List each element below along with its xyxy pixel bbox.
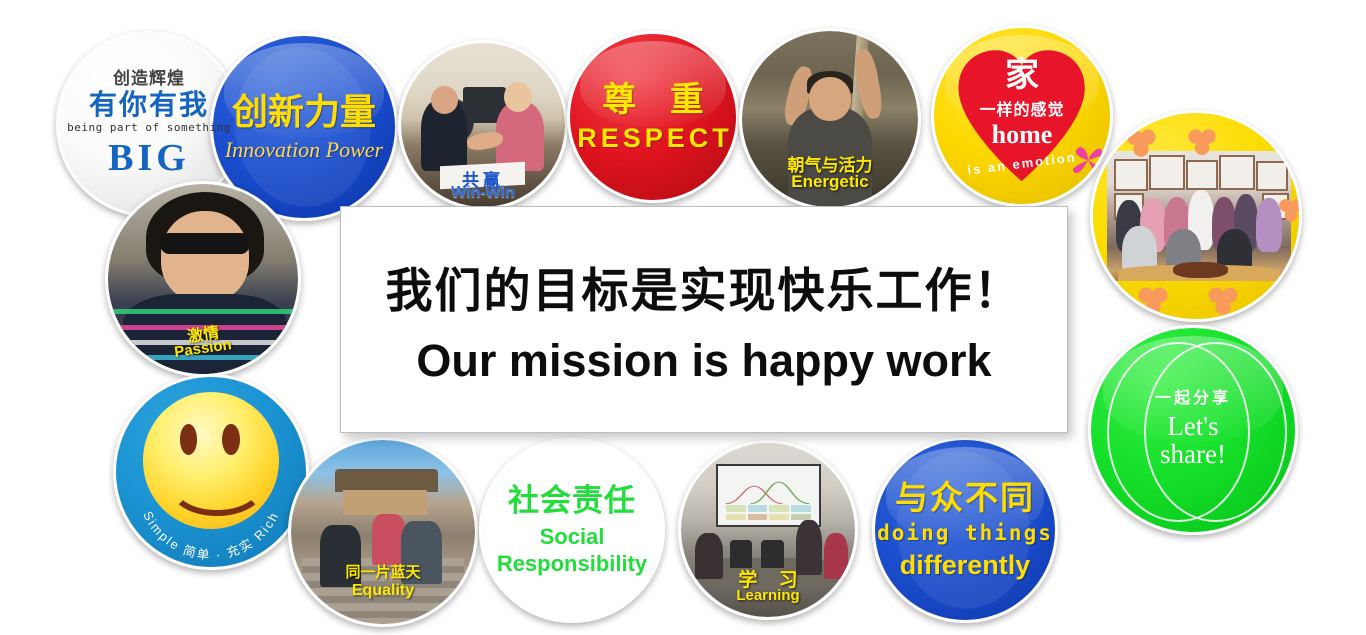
respect-line-cn: 尊 重 xyxy=(570,81,736,119)
bubble-equality[interactable]: 同一片蓝天 Equality xyxy=(288,437,478,627)
win-win-line-en: Win-Win xyxy=(401,184,565,202)
flower-icon xyxy=(1185,127,1219,159)
mission-banner: 我们的目标是实现快乐工作！ Our mission is happy work xyxy=(340,206,1068,433)
social-line-en-1: Social xyxy=(482,525,662,550)
flower-icon xyxy=(1135,285,1171,319)
differently-line-en-1: doing things xyxy=(875,522,1055,546)
mission-headline-en: Our mission is happy work xyxy=(416,335,991,387)
home-line-2: 一样的感觉 xyxy=(934,96,1110,120)
bubble-lets-share[interactable]: 一起分享 Let's share! xyxy=(1088,325,1298,535)
venn-circle-right xyxy=(1144,342,1287,521)
learning-line-en: Learning xyxy=(681,587,855,604)
bubble-energetic[interactable]: 朝气与活力 Energetic xyxy=(739,28,921,210)
bubble-passion[interactable]: 激情 Passion xyxy=(105,181,301,377)
bubble-win-win[interactable]: 共赢 Win-Win xyxy=(398,40,568,210)
values-collage-canvas: 创造辉煌 有你有我 being part of something BIG 创新… xyxy=(0,0,1366,635)
bubble-home-is-an-emotion[interactable]: 家 一样的感觉 home is an emotion xyxy=(931,25,1113,207)
bubble-respect[interactable]: 尊 重 RESPECT xyxy=(567,31,739,203)
bubble-simple-rich-smiley[interactable]: Simple 简单 · 充实 Rich xyxy=(113,374,309,570)
bubble-team-birthday-photo[interactable] xyxy=(1090,110,1302,322)
smiley-arc-text: Simple 简单 · 充实 Rich xyxy=(116,377,306,567)
bubble-learning[interactable]: 学 习 Learning xyxy=(678,440,858,620)
differently-line-cn: 与众不同 xyxy=(875,480,1055,517)
team-photo xyxy=(1107,151,1291,281)
flower-icon xyxy=(1068,140,1108,180)
equality-line-cn: 同一片蓝天 xyxy=(291,561,475,582)
flower-icon xyxy=(1276,197,1299,225)
flower-icon xyxy=(1123,127,1159,161)
mission-headline-cn: 我们的目标是实现快乐工作！ xyxy=(386,252,1023,321)
flower-icon xyxy=(1205,285,1241,319)
social-line-en-2: Responsibility xyxy=(482,552,662,577)
social-line-cn: 社会责任 xyxy=(482,484,662,519)
home-line-1: 家 xyxy=(934,58,1110,92)
differently-line-en-2: differently xyxy=(875,550,1055,580)
innovation-line-cn: 创新力量 xyxy=(213,92,395,132)
bubble-social-responsibility[interactable]: 社会责任 Social Responsibility xyxy=(479,437,665,623)
innovation-line-en: Innovation Power xyxy=(213,138,395,163)
equality-line-en: Equality xyxy=(291,582,475,600)
big-line-1: 创造辉煌 xyxy=(59,69,239,88)
svg-text:Simple 简单 · 充实 Rich: Simple 简单 · 充实 Rich xyxy=(140,509,282,563)
bubble-doing-things-differently[interactable]: 与众不同 doing things differently xyxy=(872,437,1058,623)
respect-line-en: RESPECT xyxy=(570,123,736,153)
energetic-line-en: Energetic xyxy=(742,172,918,192)
